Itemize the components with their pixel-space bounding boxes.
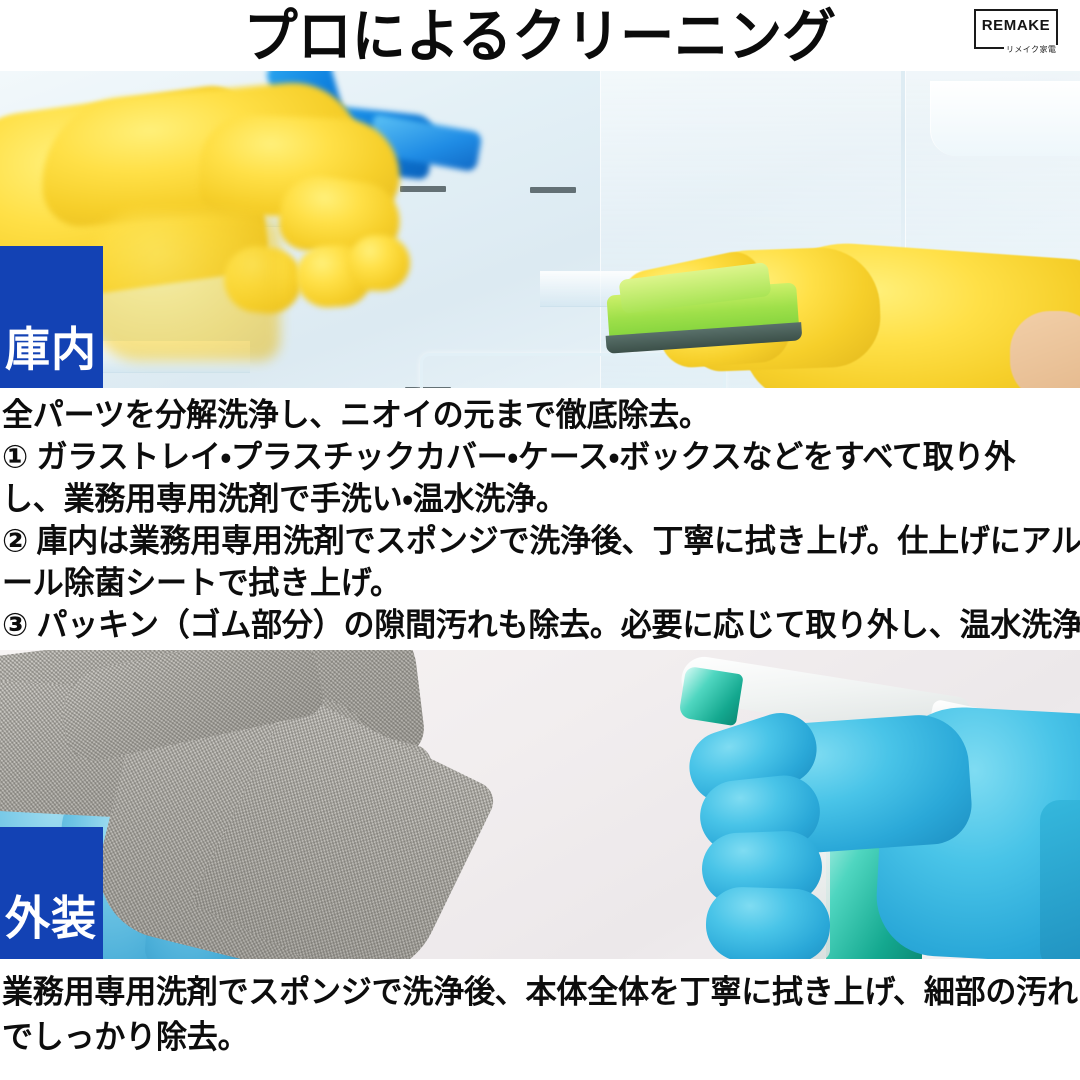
badge-exterior: 外装 [0,827,103,959]
yellow-glove-finger [348,235,410,291]
fridge-door-bin [930,81,1080,156]
spray-bottle-nozzle-cap [678,666,743,726]
badge-exterior-label: 外装 [0,894,97,943]
badge-interior: 庫内 [0,246,103,388]
photo-exterior-cleaning: 外装 [0,650,1080,959]
forearm-skin [1010,311,1080,388]
description-line: 業務用専用洗剤でスポンジで洗浄後、本体全体を丁寧に拭き上げ、細部の汚れま [2,969,1078,1015]
description-line: でしっかり除去。 [2,1014,1078,1060]
description-line: ① ガラストレイ・プラスチックカバー・ケース・ボックスなどをすべて取り外 [2,436,1078,479]
description-line: 全パーツを分解洗浄し、ニオイの元まで徹底除去。 [2,394,1078,437]
exterior-description-block: 業務用専用洗剤でスポンジで洗浄後、本体全体を丁寧に拭き上げ、細部の汚れま でしっ… [0,959,1080,1080]
fridge-shelf-clip [530,187,576,193]
description-line: ② 庫内は業務用専用洗剤でスポンジで洗浄後、丁寧に拭き上げ。仕上げにアルコ [2,520,1078,563]
description-line: ③ パッキン（ゴム部分）の隙間汚れも除去。必要に応じて取り外し、温水洗浄。 [2,604,1078,647]
logo-subtitle: リメイク家電 [1004,45,1058,55]
remake-logo: REMAKE リメイク家電 [974,7,1068,59]
fridge-shelf-clip [400,186,446,192]
page-header: プロによるクリーニング REMAKE リメイク家電 [0,0,1080,71]
description-line: し、業務用専用洗剤で手洗い・温水洗浄。 [2,478,1078,521]
page-title: プロによるクリーニング [0,1,1080,71]
yellow-glove-shadowed-area [90,211,280,361]
badge-interior-label: 庫内 [0,325,97,374]
blue-glove-right-pinky [705,886,832,959]
blue-glove-cuff [1040,800,1080,959]
photo-fridge-interior: 庫内 [0,71,1080,388]
logo-wordmark: REMAKE [974,18,1058,34]
interior-description-block: 全パーツを分解洗浄し、ニオイの元まで徹底除去。 ① ガラストレイ・プラスチックカ… [0,388,1080,650]
description-line: ール除菌シートで拭き上げ。 [2,562,1078,605]
